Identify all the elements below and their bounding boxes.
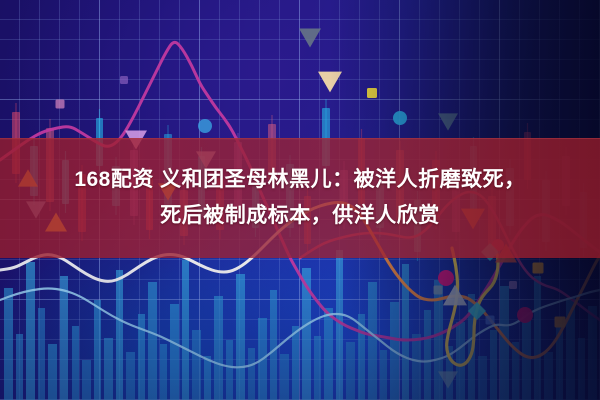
bottom-shade <box>0 260 600 400</box>
headline-text-block: 168配资 义和团圣母林黑儿：被洋人折磨致死， 死后被制成标本，供洋人欣赏 <box>0 138 600 258</box>
banner-image: 168配资 义和团圣母林黑儿：被洋人折磨致死， 死后被制成标本，供洋人欣赏 <box>0 0 600 400</box>
headline-line-1: 168配资 义和团圣母林黑儿：被洋人折磨致死， <box>74 165 525 195</box>
headline-line-2: 死后被制成标本，供洋人欣赏 <box>160 201 440 231</box>
